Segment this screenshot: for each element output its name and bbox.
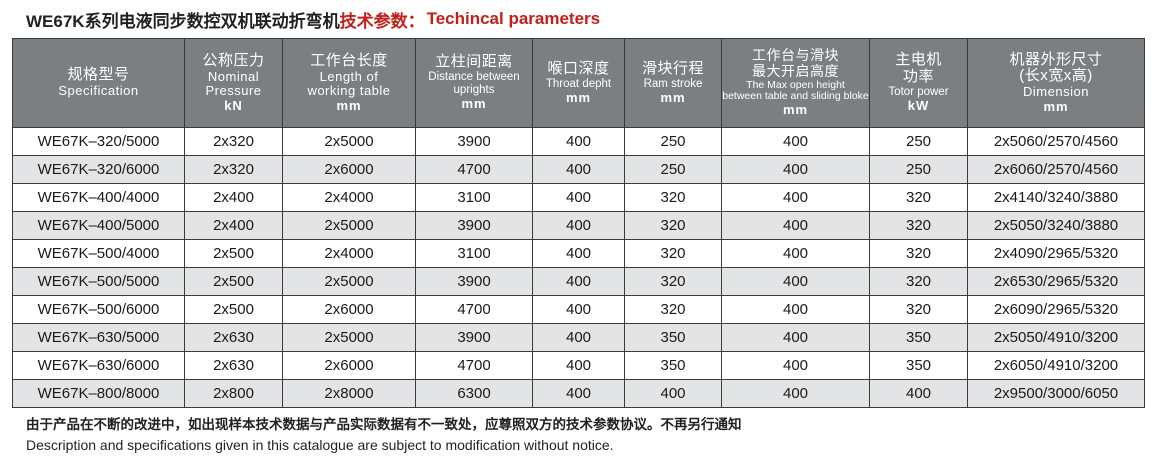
cell-value: 250	[870, 128, 968, 156]
header-en-nominal-pressure-line1: Nominal	[185, 70, 282, 85]
cell-specification: WE67K–630/6000	[13, 352, 185, 380]
cell-value: 400	[722, 212, 870, 240]
cell-value: 400	[722, 380, 870, 408]
spec-sheet-page: WE67K系列电液同步数控双机联动折弯机技术参数：Techincal param…	[0, 0, 1156, 475]
table-row: WE67K–400/40002x4002x4000310040032040032…	[13, 184, 1145, 212]
table-row: WE67K–500/40002x5002x4000310040032040032…	[13, 240, 1145, 268]
cell-value: 2x400	[185, 184, 283, 212]
cell-value: 2x500	[185, 240, 283, 268]
header-en-specification: Specification	[13, 84, 184, 99]
cell-specification: WE67K–630/5000	[13, 324, 185, 352]
header-unit-nominal-pressure: kN	[185, 99, 282, 114]
header-en-distance-uprights-line1: Distance between	[416, 71, 532, 84]
cell-value: 350	[870, 324, 968, 352]
cell-value: 400	[533, 352, 625, 380]
cell-value: 2x6530/2965/5320	[968, 268, 1145, 296]
cell-value: 2x6060/2570/4560	[968, 156, 1145, 184]
cell-specification: WE67K–320/5000	[13, 128, 185, 156]
cell-value: 4700	[416, 156, 533, 184]
cell-value: 2x630	[185, 352, 283, 380]
header-en-ram-stroke: Ram stroke	[625, 78, 721, 91]
specifications-table: 规格型号 Specification 公称压力 Nominal Pressure…	[12, 38, 1145, 408]
column-header-table-length: 工作台长度 Length of working table mm	[283, 39, 416, 128]
header-en-table-length-line2: working table	[283, 84, 415, 99]
cell-value: 400	[533, 296, 625, 324]
cell-value: 320	[870, 240, 968, 268]
cell-value: 2x4090/2965/5320	[968, 240, 1145, 268]
table-header: 规格型号 Specification 公称压力 Nominal Pressure…	[13, 39, 1145, 128]
cell-value: 400	[870, 380, 968, 408]
footnote: 由于产品在不断的改进中，如出现样本技术数据与产品实际数据有不一致处，应尊照双方的…	[12, 408, 1144, 455]
cell-value: 2x5000	[283, 268, 416, 296]
cell-value: 250	[625, 128, 722, 156]
cell-value: 400	[722, 324, 870, 352]
cell-specification: WE67K–500/4000	[13, 240, 185, 268]
cell-value: 2x6000	[283, 156, 416, 184]
cell-value: 400	[722, 296, 870, 324]
cell-specification: WE67K–500/5000	[13, 268, 185, 296]
header-en-nominal-pressure-line2: Pressure	[185, 84, 282, 99]
column-header-max-open-height: 工作台与滑块 最大开启高度 The Max open height betwee…	[722, 39, 870, 128]
table-row: WE67K–800/80002x8002x8000630040040040040…	[13, 380, 1145, 408]
cell-value: 320	[870, 184, 968, 212]
header-cn-distance-uprights: 立柱间距离	[416, 54, 532, 71]
cell-value: 2x4000	[283, 240, 416, 268]
table-row: WE67K–630/50002x6302x5000390040035040035…	[13, 324, 1145, 352]
cell-value: 400	[722, 156, 870, 184]
footnote-english: Description and specifications given in …	[26, 435, 1144, 455]
column-header-specification: 规格型号 Specification	[13, 39, 185, 128]
cell-value: 2x9500/3000/6050	[968, 380, 1145, 408]
header-cn-table-length: 工作台长度	[283, 53, 415, 70]
cell-value: 400	[533, 212, 625, 240]
cell-value: 2x500	[185, 268, 283, 296]
cell-value: 2x8000	[283, 380, 416, 408]
cell-value: 2x4000	[283, 184, 416, 212]
cell-value: 320	[625, 240, 722, 268]
header-cn-dimension-line2: (长x宽x高)	[968, 68, 1144, 85]
header-cn-specification: 规格型号	[13, 67, 184, 84]
header-cn-max-open-height-line2: 最大开启高度	[722, 64, 869, 80]
cell-value: 2x5000	[283, 324, 416, 352]
cell-value: 2x5050/4910/3200	[968, 324, 1145, 352]
cell-value: 400	[722, 184, 870, 212]
cell-value: 350	[625, 352, 722, 380]
header-unit-motor-power: kW	[870, 99, 967, 114]
header-en-throat-depth: Throat depht	[533, 78, 624, 91]
cell-value: 2x320	[185, 128, 283, 156]
cell-value: 2x6090/2965/5320	[968, 296, 1145, 324]
footnote-chinese: 由于产品在不断的改进中，如出现样本技术数据与产品实际数据有不一致处，应尊照双方的…	[26, 415, 1144, 435]
cell-specification: WE67K–400/5000	[13, 212, 185, 240]
cell-value: 250	[870, 156, 968, 184]
cell-value: 2x4140/3240/3880	[968, 184, 1145, 212]
cell-value: 2x5050/3240/3880	[968, 212, 1145, 240]
cell-value: 2x6000	[283, 352, 416, 380]
header-unit-table-length: mm	[283, 99, 415, 114]
cell-value: 400	[625, 380, 722, 408]
cell-value: 400	[533, 324, 625, 352]
title-chinese-black: WE67K系列电液同步数控双机联动折弯机	[26, 7, 340, 32]
cell-value: 2x400	[185, 212, 283, 240]
cell-specification: WE67K–800/8000	[13, 380, 185, 408]
column-header-throat-depth: 喉口深度 Throat depht mm	[533, 39, 625, 128]
cell-value: 320	[625, 184, 722, 212]
cell-value: 3900	[416, 324, 533, 352]
cell-specification: WE67K–500/6000	[13, 296, 185, 324]
header-unit-distance-uprights: mm	[416, 97, 532, 112]
table-body: WE67K–320/50002x3202x5000390040025040025…	[13, 128, 1145, 408]
header-cn-motor-power-line1: 主电机	[870, 52, 967, 69]
header-cn-max-open-height-line1: 工作台与滑块	[722, 48, 869, 64]
title-english: Techincal parameters	[427, 9, 601, 29]
cell-value: 400	[533, 240, 625, 268]
cell-value: 320	[870, 296, 968, 324]
cell-value: 4700	[416, 296, 533, 324]
table-row: WE67K–500/60002x5002x6000470040032040032…	[13, 296, 1145, 324]
header-cn-dimension-line1: 机器外形尺寸	[968, 52, 1144, 69]
page-title: WE67K系列电液同步数控双机联动折弯机技术参数：Techincal param…	[12, 0, 1144, 38]
cell-value: 2x5000	[283, 212, 416, 240]
table-row: WE67K–320/50002x3202x5000390040025040025…	[13, 128, 1145, 156]
cell-value: 400	[533, 380, 625, 408]
cell-value: 2x630	[185, 324, 283, 352]
header-unit-dimension: mm	[968, 100, 1144, 115]
column-header-distance-uprights: 立柱间距离 Distance between uprights mm	[416, 39, 533, 128]
column-header-ram-stroke: 滑块行程 Ram stroke mm	[625, 39, 722, 128]
cell-value: 3900	[416, 128, 533, 156]
column-header-dimension: 机器外形尺寸 (长x宽x高) Dimension mm	[968, 39, 1145, 128]
cell-value: 2x800	[185, 380, 283, 408]
header-cn-nominal-pressure: 公称压力	[185, 53, 282, 70]
cell-value: 400	[722, 128, 870, 156]
header-en-dimension: Dimension	[968, 85, 1144, 100]
cell-value: 320	[625, 268, 722, 296]
cell-value: 400	[533, 128, 625, 156]
cell-value: 320	[625, 296, 722, 324]
cell-value: 2x6050/4910/3200	[968, 352, 1145, 380]
cell-value: 320	[870, 212, 968, 240]
header-row: 规格型号 Specification 公称压力 Nominal Pressure…	[13, 39, 1145, 128]
cell-specification: WE67K–320/6000	[13, 156, 185, 184]
cell-value: 400	[722, 268, 870, 296]
cell-value: 3100	[416, 240, 533, 268]
table-row: WE67K–400/50002x4002x5000390040032040032…	[13, 212, 1145, 240]
cell-value: 3900	[416, 212, 533, 240]
cell-value: 400	[533, 268, 625, 296]
column-header-nominal-pressure: 公称压力 Nominal Pressure kN	[185, 39, 283, 128]
cell-value: 3100	[416, 184, 533, 212]
cell-value: 400	[722, 352, 870, 380]
cell-value: 250	[625, 156, 722, 184]
cell-value: 400	[722, 240, 870, 268]
header-cn-motor-power-line2: 功率	[870, 69, 967, 86]
cell-value: 350	[870, 352, 968, 380]
table-row: WE67K–630/60002x6302x6000470040035040035…	[13, 352, 1145, 380]
cell-value: 2x320	[185, 156, 283, 184]
header-cn-throat-depth: 喉口深度	[533, 61, 624, 78]
cell-value: 2x5000	[283, 128, 416, 156]
cell-value: 2x6000	[283, 296, 416, 324]
cell-value: 2x500	[185, 296, 283, 324]
cell-value: 3900	[416, 268, 533, 296]
cell-value: 400	[533, 184, 625, 212]
cell-value: 320	[625, 212, 722, 240]
cell-value: 400	[533, 156, 625, 184]
cell-value: 6300	[416, 380, 533, 408]
column-header-motor-power: 主电机 功率 Totor power kW	[870, 39, 968, 128]
cell-value: 4700	[416, 352, 533, 380]
header-unit-throat-depth: mm	[533, 91, 624, 106]
table-row: WE67K–500/50002x5002x5000390040032040032…	[13, 268, 1145, 296]
header-unit-ram-stroke: mm	[625, 91, 721, 106]
header-unit-max-open-height: mm	[722, 103, 869, 118]
header-en-table-length-line1: Length of	[283, 70, 415, 85]
table-row: WE67K–320/60002x3202x6000470040025040025…	[13, 156, 1145, 184]
cell-value: 350	[625, 324, 722, 352]
cell-value: 320	[870, 268, 968, 296]
header-cn-ram-stroke: 滑块行程	[625, 61, 721, 78]
title-chinese-red: 技术参数：	[340, 7, 425, 32]
cell-specification: WE67K–400/4000	[13, 184, 185, 212]
cell-value: 2x5060/2570/4560	[968, 128, 1145, 156]
